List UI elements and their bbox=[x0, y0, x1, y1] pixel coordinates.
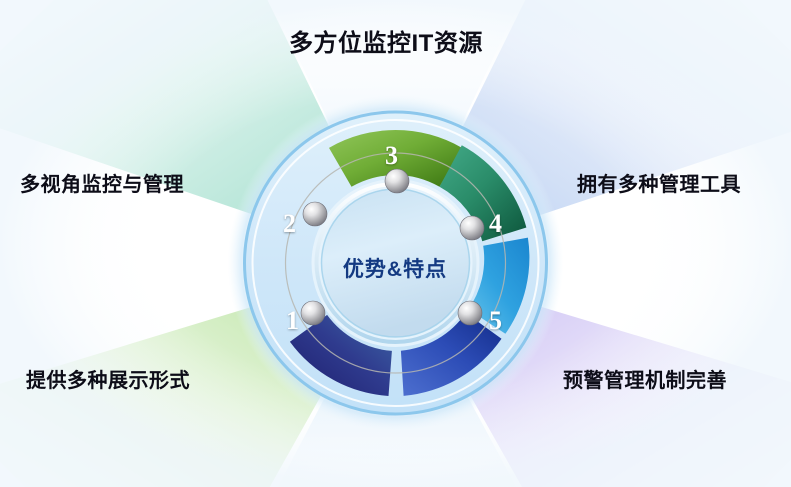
bullet-2[interactable] bbox=[303, 202, 327, 226]
label-multi-view-monitoring: 多视角监控与管理 bbox=[20, 168, 184, 197]
bullet-1[interactable] bbox=[301, 301, 325, 325]
bullet-4[interactable] bbox=[460, 216, 484, 240]
radial-wheel bbox=[0, 0, 791, 487]
label-multiple-management-tools: 拥有多种管理工具 bbox=[577, 168, 741, 197]
bullet-3[interactable] bbox=[385, 169, 409, 193]
diagram-title: 多方位监控IT资源 bbox=[289, 23, 483, 58]
bullet-5[interactable] bbox=[458, 301, 482, 325]
label-multiple-display-forms: 提供多种展示形式 bbox=[26, 364, 190, 393]
diagram-canvas: 优势&特点 1 2 3 4 5 多方位监控IT资源 多视角监控与管理 提供多种展… bbox=[0, 0, 791, 487]
label-alert-management-mechanism: 预警管理机制完善 bbox=[563, 364, 727, 393]
